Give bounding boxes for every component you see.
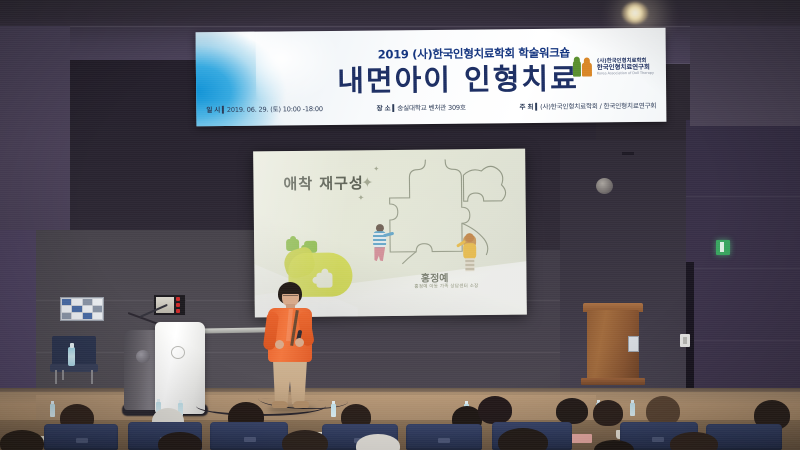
wall-upper-right (690, 26, 800, 126)
banner-place: 장 소 ▍숭실대학교 벤처관 309호 (377, 102, 466, 113)
water-bottle-icon (68, 347, 75, 366)
wall-poster-board-icon (60, 297, 104, 321)
seat-tag (244, 437, 256, 442)
audience-head (0, 430, 44, 450)
round-wall-speaker-icon (596, 178, 613, 194)
banner-place-value: 숭실대학교 벤처관 309호 (397, 104, 466, 113)
water-bottle-icon (630, 403, 635, 416)
banner-host: 주 최 ▍(사)한국인형치료학회 / 한국인형치료연구회 (519, 100, 656, 111)
water-bottle-icon (331, 404, 336, 417)
exit-door (686, 262, 694, 402)
banner-date: 일 시 ▍2019. 06. 29. (토) 10:00 -18:00 (206, 103, 323, 114)
audience-head (282, 430, 328, 450)
wall-seam (686, 268, 800, 269)
audience-head (593, 400, 623, 426)
seat-tag (652, 437, 664, 442)
wall-vent-slot (622, 152, 634, 155)
wall-control-panel-icon[interactable] (153, 294, 186, 316)
wall-seam (686, 196, 800, 197)
audience-head (556, 398, 588, 424)
audience-head (498, 428, 548, 450)
wall-right-purple (686, 120, 800, 410)
exit-sign-icon (716, 240, 730, 255)
wall-power-outlet-icon (680, 334, 690, 347)
ceiling-light-icon (622, 2, 648, 24)
audience-head (478, 396, 512, 424)
logo-line3: Korea Association of Doll Therapy (597, 72, 654, 76)
wall-seam (686, 340, 800, 341)
podium-plate (628, 336, 639, 352)
audience-head (158, 432, 202, 450)
audience-head (670, 432, 718, 450)
water-bottle-icon (50, 404, 55, 417)
audience-seat[interactable] (44, 424, 118, 450)
banner-host-label: 주 최 (519, 103, 533, 111)
photo-scene: 2019 (사)한국인형치료학회 학술워크숍 내면아이 인형치료 일 시 ▍20… (0, 0, 800, 450)
organization-logo: (사)한국인형치료학회 한국인형치료연구회 Korea Association … (572, 50, 660, 85)
banner-place-label: 장 소 (377, 104, 391, 112)
banner-host-value: (사)한국인형치료학회 / 한국인형치료연구회 (540, 102, 656, 111)
podium-base (581, 378, 645, 385)
seat-tag (76, 438, 88, 443)
two-figures-logo-icon (572, 56, 594, 78)
seat-tag (438, 438, 450, 443)
audience-seat[interactable] (210, 422, 288, 450)
event-banner: 2019 (사)한국인형치료학회 학술워크숍 내면아이 인형치료 일 시 ▍20… (196, 28, 667, 127)
banner-date-label: 일 시 (206, 106, 220, 114)
banner-date-value: 2019. 06. 29. (토) 10:00 -18:00 (227, 105, 323, 114)
control-panel-buttons[interactable] (176, 297, 180, 313)
presenter-person (262, 282, 318, 410)
audience-seat[interactable] (406, 424, 482, 450)
